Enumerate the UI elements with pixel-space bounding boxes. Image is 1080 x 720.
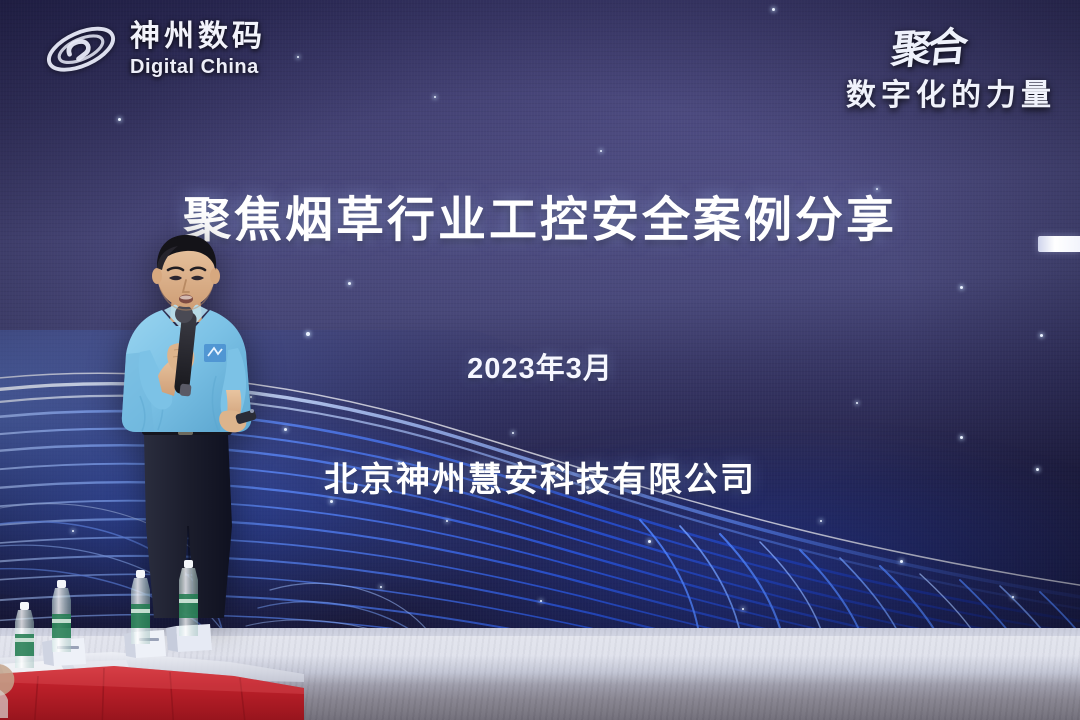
water-bottle [15, 602, 34, 668]
logo-wordmark: 神州数码 Digital China [130, 22, 266, 77]
event-slogan: 聚合 数字化的力量 [846, 16, 1056, 114]
company-emblem-icon [204, 344, 226, 362]
water-bottle [179, 560, 198, 636]
front-row-table [0, 556, 294, 720]
slogan-calligraphy-text: 聚合 [889, 14, 968, 76]
digital-china-logo: 神州数码 Digital China [42, 18, 266, 80]
logo-english-name: Digital China [130, 57, 266, 77]
water-bottle [52, 580, 71, 652]
slogan-subtitle-text: 数字化的力量 [846, 70, 1056, 114]
digital-china-swirl-icon [42, 18, 120, 80]
logo-chinese-name: 神州数码 [130, 22, 266, 52]
water-bottle [131, 570, 150, 644]
conference-stage-photo: 神州数码 Digital China 聚合 数字化的力量 聚焦烟草行业工控安全案… [0, 0, 1080, 720]
